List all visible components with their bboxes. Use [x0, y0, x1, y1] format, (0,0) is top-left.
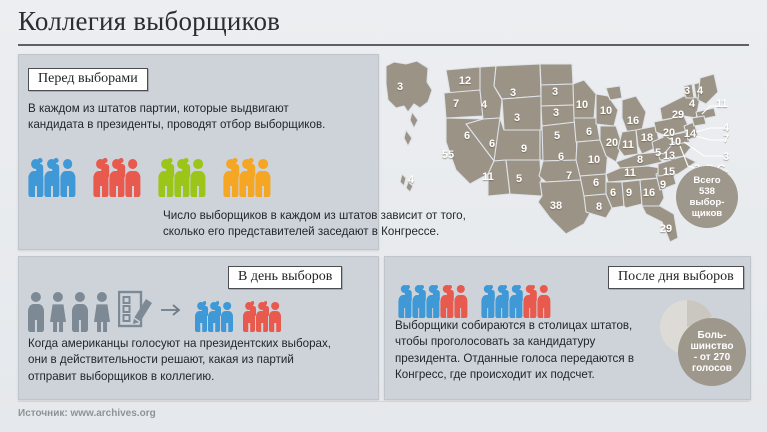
- state-votes-nc: 15: [663, 166, 675, 178]
- delegate-group: [243, 287, 281, 332]
- person-head: [540, 285, 548, 293]
- state-votes-sc: 9: [660, 179, 666, 191]
- person-leg-gap: [262, 186, 264, 197]
- state-votes-wa: 12: [459, 75, 471, 87]
- person-leg-gap: [248, 323, 250, 332]
- person-leg-gap: [101, 322, 103, 332]
- person-figure: [454, 285, 467, 318]
- person-head: [128, 159, 138, 169]
- state-votes-la: 8: [596, 201, 602, 213]
- copy-election-day: Когда американцы голосуют на президентск…: [28, 336, 368, 385]
- person-head: [31, 292, 41, 302]
- title-divider: [18, 44, 749, 46]
- source-label: Источник: www.archives.org: [18, 408, 156, 419]
- person-leg-gap: [213, 323, 215, 332]
- state-votes-ne: 5: [554, 130, 560, 142]
- person-head: [271, 302, 279, 310]
- person-head: [442, 285, 450, 293]
- map-leader-label-0: 11: [716, 98, 728, 110]
- state-votes-or: 7: [453, 98, 459, 110]
- ballot-icon: [118, 290, 154, 330]
- person-leg-gap: [230, 186, 232, 197]
- copy-before-election: В каждом из штатов партии, которые выдви…: [28, 101, 358, 134]
- person-leg-gap: [200, 323, 202, 332]
- state-votes-wi: 10: [600, 105, 612, 117]
- state-votes-ks: 6: [558, 151, 564, 163]
- state-votes-il: 20: [606, 137, 618, 149]
- page-title: Коллегия выборщиков: [18, 6, 280, 37]
- state-votes-ar: 6: [593, 177, 599, 189]
- person-head: [414, 285, 422, 293]
- state-votes-nm: 5: [516, 173, 522, 185]
- person-head: [193, 159, 203, 169]
- person-leg-gap: [404, 308, 406, 318]
- person-figure: [412, 285, 425, 318]
- chip-election-day: В день выборов: [228, 266, 342, 289]
- state-votes-co: 9: [521, 143, 527, 155]
- person-figure: [440, 285, 453, 318]
- delegate-group: [224, 140, 271, 197]
- person-leg-gap: [487, 308, 489, 318]
- person-figure: [93, 159, 108, 197]
- person-leg-gap: [100, 186, 102, 197]
- person-head: [456, 285, 464, 293]
- person-head: [498, 285, 506, 293]
- state-votes-tx: 38: [550, 200, 562, 212]
- party-delegate-groups: [28, 139, 368, 197]
- state-votes-wv: 5: [655, 147, 661, 159]
- person-figure: [190, 159, 205, 197]
- state-votes-ia: 6: [586, 126, 592, 138]
- state-votes-vt: 3: [684, 85, 690, 97]
- person-head: [484, 285, 492, 293]
- person-head: [210, 302, 218, 310]
- person-leg-gap: [460, 308, 462, 318]
- person-head: [258, 302, 266, 310]
- map-leader-label-2: 7: [723, 133, 729, 145]
- person-head: [226, 159, 236, 169]
- person-figure: [240, 159, 255, 197]
- state-votes-nv: 6: [464, 130, 470, 142]
- person-figure: [44, 159, 59, 197]
- electors-voting-figures: [398, 268, 618, 318]
- state-votes-va: 13: [663, 150, 675, 162]
- person-head: [400, 285, 408, 293]
- person-head: [31, 159, 41, 169]
- person-leg-gap: [35, 320, 37, 332]
- delegate-group: [93, 140, 140, 197]
- person-leg-gap: [116, 186, 118, 197]
- person-leg-gap: [197, 186, 199, 197]
- person-leg-gap: [132, 186, 134, 197]
- person-figure: [256, 159, 271, 197]
- infographic-root: Коллегия выборщиков Перед выборами В каж…: [0, 0, 767, 432]
- state-votes-ak: 3: [397, 81, 403, 93]
- person-figure: [109, 159, 124, 197]
- state-votes-wy: 3: [514, 112, 520, 124]
- person-head: [96, 159, 106, 169]
- person-leg-gap: [446, 308, 448, 318]
- person-figure: [523, 285, 536, 318]
- person-leg-gap: [67, 186, 69, 197]
- person-head: [53, 292, 63, 302]
- person-figure: [28, 292, 44, 332]
- person-leg-gap: [51, 186, 53, 197]
- state-votes-me: 4: [689, 98, 695, 110]
- person-leg-gap: [246, 186, 248, 197]
- state-votes-al: 9: [626, 187, 632, 199]
- person-head: [512, 285, 520, 293]
- state-votes-in: 11: [622, 139, 634, 151]
- state-votes-hi: 4: [408, 174, 414, 186]
- person-leg-gap: [418, 308, 420, 318]
- person-figure: [537, 285, 550, 318]
- delegate-group: [195, 287, 233, 332]
- state-votes-tn: 11: [624, 167, 636, 179]
- person-head: [258, 159, 268, 169]
- state-votes-nj: 14: [684, 128, 696, 140]
- person-figure: [426, 285, 439, 318]
- person-leg-gap: [165, 186, 167, 197]
- person-leg-gap: [274, 323, 276, 332]
- state-votes-md: 10: [669, 136, 681, 148]
- delegate-group: [398, 269, 467, 319]
- person-figure: [208, 302, 220, 332]
- delegate-group: [158, 140, 205, 197]
- person-figure: [195, 302, 207, 332]
- person-leg-gap: [226, 323, 228, 332]
- person-figure: [72, 292, 88, 332]
- person-figure: [269, 302, 281, 332]
- person-head: [112, 159, 122, 169]
- person-leg-gap: [79, 320, 81, 332]
- result-delegate-figures: [195, 294, 315, 332]
- voter-figures: [28, 290, 123, 332]
- state-votes-ok: 7: [566, 170, 572, 182]
- state-votes-ga: 16: [643, 187, 655, 199]
- person-leg-gap: [529, 308, 531, 318]
- person-figure-female: [50, 292, 66, 332]
- person-head: [242, 159, 252, 169]
- person-head: [526, 285, 534, 293]
- map-leader-label-3: 3: [723, 151, 729, 163]
- person-leg-gap: [432, 308, 434, 318]
- arrow-right-icon: [160, 303, 182, 317]
- person-leg-gap: [543, 308, 545, 318]
- state-votes-ms: 6: [610, 187, 616, 199]
- state-votes-ut: 6: [489, 138, 495, 150]
- person-leg-gap: [181, 186, 183, 197]
- person-head: [75, 292, 85, 302]
- badge-total-electors: Всего 538 выбор- щиков: [676, 166, 738, 228]
- person-leg-gap: [501, 308, 503, 318]
- person-figure: [174, 159, 189, 197]
- state-votes-ny: 29: [672, 109, 684, 121]
- person-figure: [60, 159, 75, 197]
- person-figure: [221, 302, 233, 332]
- person-figure: [398, 285, 411, 318]
- delegate-group: [28, 140, 75, 197]
- person-figure: [243, 302, 255, 332]
- state-votes-mi: 16: [627, 115, 639, 127]
- person-figure: [509, 285, 522, 318]
- person-head: [428, 285, 436, 293]
- person-head: [177, 159, 187, 169]
- chip-before-election: Перед выборами: [28, 68, 148, 91]
- state-votes-mt: 3: [510, 87, 516, 99]
- badge-majority-threshold: Боль- шинство - от 270 голосов: [678, 318, 746, 386]
- person-figure: [125, 159, 140, 197]
- person-figure: [28, 159, 43, 197]
- state-votes-ky: 8: [637, 154, 643, 166]
- person-head: [245, 302, 253, 310]
- person-head: [97, 292, 107, 302]
- person-figure: [224, 159, 239, 197]
- person-figure: [481, 285, 494, 318]
- state-votes-nd: 3: [552, 86, 558, 98]
- person-head: [223, 302, 231, 310]
- person-figure: [256, 302, 268, 332]
- chip-after-election: После дня выборов: [608, 266, 744, 289]
- person-leg-gap: [515, 308, 517, 318]
- person-figure: [158, 159, 173, 197]
- person-leg-gap: [261, 323, 263, 332]
- person-head: [197, 302, 205, 310]
- state-votes-ca: 55: [442, 149, 454, 161]
- person-figure-female: [94, 292, 110, 332]
- state-votes-mn: 10: [576, 99, 588, 111]
- person-head: [47, 159, 57, 169]
- state-votes-oh: 18: [641, 132, 653, 144]
- delegate-group: [481, 269, 550, 319]
- person-figure: [495, 285, 508, 318]
- state-votes-az: 11: [482, 171, 494, 183]
- copy-after-election: Выборщики собираются в столицах штатов, …: [395, 318, 685, 384]
- state-votes-id: 4: [481, 99, 487, 111]
- person-head: [161, 159, 171, 169]
- person-head: [63, 159, 73, 169]
- person-leg-gap: [35, 186, 37, 197]
- state-votes-fl: 29: [660, 223, 672, 235]
- source-divider: [18, 401, 749, 402]
- state-votes-sd: 3: [553, 107, 559, 119]
- person-leg-gap: [57, 322, 59, 332]
- state-votes-mo: 10: [588, 154, 600, 166]
- state-votes-nh: 4: [697, 85, 703, 97]
